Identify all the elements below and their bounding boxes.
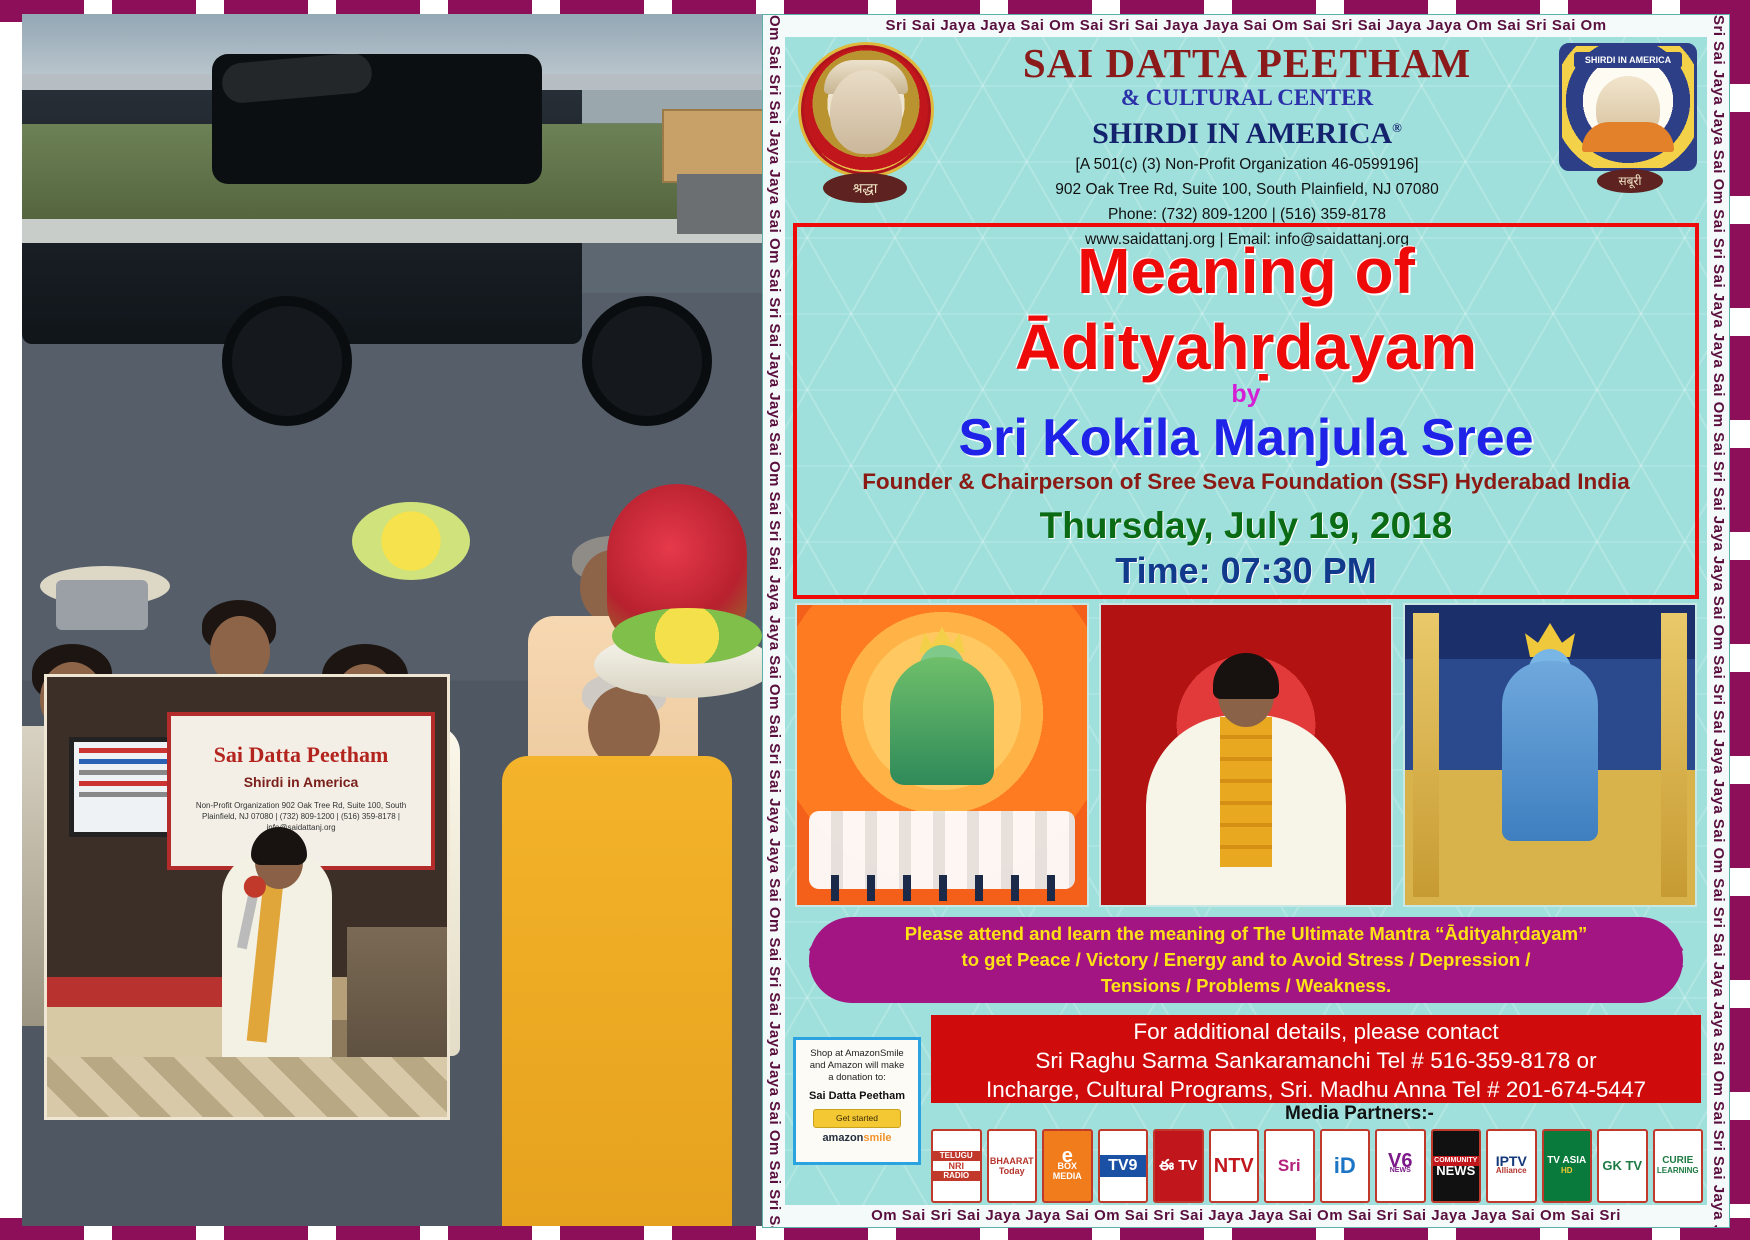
p9-bot: NEWS — [1390, 1166, 1411, 1176]
image-speaker-portrait — [1099, 603, 1393, 907]
partner-logo-ntv: NTV — [1209, 1129, 1260, 1203]
organization-block: SAI DATTA PEETHAM & CULTURAL CENTER SHIR… — [937, 41, 1557, 250]
contact-box: For additional details, please contact S… — [931, 1015, 1701, 1103]
amazon-beneficiary: Sai Datta Peetham — [796, 1090, 918, 1102]
floor-tiles — [47, 1057, 447, 1117]
p14-bot: LEARNING — [1657, 1166, 1699, 1176]
deity-image-row — [795, 603, 1697, 903]
temple-pillar-left — [1413, 613, 1439, 897]
partner-logo-sri-tv: Sri — [1264, 1129, 1315, 1203]
shirdi-in-america-seal-icon: SHIRDI IN AMERICA — [1559, 43, 1697, 171]
trademark-symbol: ® — [1392, 120, 1402, 135]
image-surya-bhagavan — [795, 603, 1089, 907]
event-title-line1: Meaning of — [797, 239, 1695, 303]
org-phone: Phone: (732) 809-1200 | (516) 359-8178 — [937, 204, 1557, 225]
partner-logo-iptv-alliance: IPTV Alliance — [1486, 1129, 1537, 1203]
org-tagline: SHIRDI IN AMERICA® — [937, 111, 1557, 150]
p5-mid: ఈ TV — [1159, 1161, 1197, 1171]
partner-logo-id-network: iD — [1320, 1129, 1371, 1203]
seal-right-robe — [1582, 122, 1674, 152]
partner-logo-gk-tv: GK TV — [1597, 1129, 1648, 1203]
callout-line2: to get Peace / Victory / Energy and to A… — [905, 947, 1588, 973]
banner-subtitle: Shirdi in America — [179, 774, 423, 790]
p10-mid: NEWS — [1436, 1166, 1475, 1176]
p11-mid: IPTV — [1496, 1156, 1527, 1166]
p7-mid: Sri — [1278, 1161, 1301, 1171]
contact-line2: Sri Raghu Sarma Sankaramanchi Tel # 516-… — [931, 1046, 1701, 1075]
p1-top: TELUGU — [933, 1151, 980, 1161]
photo-collage: Sai Datta Peetham Shirdi in America Non-… — [22, 14, 762, 1226]
flower-plate — [352, 502, 470, 580]
org-nonprofit-id: [A 501(c) (3) Non-Profit Organization 46… — [937, 154, 1557, 175]
seal-face — [830, 70, 902, 154]
event-flyer: Sri Sai Jaya Jaya Sai Om Sai Sri Sai Jay… — [762, 14, 1730, 1228]
org-address: 902 Oak Tree Rd, Suite 100, South Plainf… — [937, 179, 1557, 200]
mantra-ribbon-bottom-text: Om Sai Sri Sai Jaya Jaya Sai Om Sai Sri … — [871, 1207, 1621, 1224]
partner-logo-bhaarat-today: BHAARAT Today — [987, 1129, 1038, 1203]
partner-logo-telugu-nri-radio: TELUGU NRI RADIO — [931, 1129, 982, 1203]
amazon-word: amazon — [822, 1132, 863, 1144]
contact-line3: Incharge, Cultural Programs, Sri. Madhu … — [931, 1075, 1701, 1104]
p14-mid: CURIE — [1662, 1156, 1693, 1166]
org-name: SAI DATTA PEETHAM — [937, 41, 1557, 85]
mantra-ribbon-right: Sri Sai Jaya Jaya Sai Om Sai Sri Sai Jay… — [1707, 15, 1729, 1227]
partner-logo-tv-asia: TV ASIA HD — [1542, 1129, 1593, 1203]
sai-datta-peetham-seal-icon — [801, 45, 931, 175]
image-sri-rama — [1403, 603, 1697, 907]
p3-top: e — [1062, 1151, 1073, 1161]
mantra-ribbon-left-text: Om Sai Sri Sai Jaya Jaya Sai Om Sai Sri … — [763, 15, 785, 1227]
event-title-line2: Ādityahṛdayam — [797, 315, 1695, 379]
curb — [22, 219, 762, 243]
amazon-get-started-button[interactable]: Get started — [813, 1109, 901, 1128]
amazon-smile-box[interactable]: Shop at AmazonSmile and Amazon will make… — [793, 1037, 921, 1165]
frame-dash-right — [1728, 0, 1750, 1240]
equipment-box — [677, 174, 762, 234]
flower-offering — [612, 608, 762, 664]
surya-body — [890, 657, 994, 785]
snowflake-left-icon: ❄ — [803, 936, 851, 984]
partner-logo-etv: ఈ TV — [1153, 1129, 1204, 1203]
banner-title: Sai Datta Peetham — [179, 742, 423, 768]
portrait-hair — [1213, 653, 1279, 699]
mantra-ribbon-top-text: Sri Sai Jaya Jaya Sai Om Sai Sri Sai Jay… — [885, 17, 1606, 34]
event-date: Thursday, July 19, 2018 — [797, 503, 1695, 549]
seating — [347, 927, 447, 1077]
callout-banner: ❄ Please attend and learn the meaning of… — [809, 917, 1683, 1003]
media-partners-list: TELUGU NRI RADIO BHAARAT Today e BOX MED… — [931, 1129, 1703, 1203]
inset-photo: Sai Datta Peetham Shirdi in America Non-… — [44, 674, 450, 1120]
callout-line1: Please attend and learn the meaning of T… — [905, 921, 1588, 947]
p2-bot: Today — [999, 1166, 1025, 1176]
event-speaker-title: Founder & Chairperson of Sree Seva Found… — [797, 467, 1695, 497]
event-time: Time: 07:30 PM — [797, 549, 1695, 593]
amazon-smile-logo-icon: amazonsmile — [796, 1132, 918, 1144]
mantra-ribbon-left: Om Sai Sri Sai Jaya Jaya Sai Om Sai Sri … — [763, 15, 785, 1227]
poster-page: Sai Datta Peetham Shirdi in America Non-… — [0, 0, 1750, 1240]
snowflake-right-icon: ❄ — [1641, 936, 1689, 984]
p13-mid: GK TV — [1602, 1161, 1642, 1171]
van-wheel-left — [222, 296, 352, 426]
p11-bot: Alliance — [1496, 1166, 1527, 1176]
flyer-header: श्रद्धा SHIRDI IN AMERICA सबूरी SAI DATT… — [785, 37, 1707, 222]
p6-mid: NTV — [1214, 1161, 1254, 1171]
amazon-line2: and Amazon will make — [796, 1060, 918, 1072]
shraddha-label: श्रद्धा — [823, 173, 907, 203]
partner-logo-curie-learning: CURIE LEARNING — [1653, 1129, 1704, 1203]
smile-word: smile — [863, 1132, 891, 1144]
p3-mid: BOX — [1057, 1161, 1077, 1171]
rama-body — [1502, 661, 1598, 841]
mantra-ribbon-right-text: Sri Sai Jaya Jaya Sai Om Sai Sri Sai Jay… — [1707, 15, 1729, 1227]
callout-line3: Tensions / Problems / Weakness. — [905, 973, 1588, 999]
p12-bot: HD — [1561, 1166, 1573, 1176]
p4-mid: TV9 — [1100, 1155, 1147, 1177]
partner-logo-tv9: TV9 — [1098, 1129, 1149, 1203]
portrait-sash — [1220, 717, 1272, 867]
amazon-line1: Shop at AmazonSmile — [796, 1048, 918, 1060]
p12-mid: TV ASIA — [1547, 1156, 1586, 1166]
p8-mid: iD — [1334, 1161, 1356, 1171]
org-subtitle: & CULTURAL CENTER — [937, 85, 1557, 111]
steel-pot — [56, 580, 148, 630]
van-wheel-right — [582, 296, 712, 426]
p3-bot: MEDIA — [1053, 1171, 1082, 1181]
contact-line1: For additional details, please contact — [931, 1017, 1701, 1046]
banner-details: Non-Profit Organization 902 Oak Tree Rd,… — [181, 800, 421, 833]
p2-mid: BHAARAT — [990, 1156, 1034, 1166]
p1-bot: RADIO — [933, 1171, 980, 1181]
temple-pillar-right — [1661, 613, 1687, 897]
p9-mid: V6 — [1388, 1156, 1412, 1166]
callout-text: Please attend and learn the meaning of T… — [905, 921, 1588, 999]
partner-logo-community-news: COMMUNITY NEWS — [1431, 1129, 1482, 1203]
seal-caption-top: SHIRDI IN AMERICA — [1574, 52, 1682, 68]
mantra-ribbon-bottom: Om Sai Sri Sai Jaya Jaya Sai Om Sai Sri … — [763, 1205, 1729, 1227]
amazon-line3: a donation to: — [796, 1072, 918, 1084]
partner-logo-v6-news: V6 NEWS — [1375, 1129, 1426, 1203]
cardboard-box — [662, 109, 762, 183]
partner-logo-ebox-media: e BOX MEDIA — [1042, 1129, 1093, 1203]
p1-mid: NRI — [949, 1161, 965, 1171]
event-panel: Meaning of Ādityahṛdayam by Sri Kokila M… — [793, 223, 1699, 599]
media-partners-label: Media Partners:- — [1285, 1103, 1434, 1125]
saburi-label: सबूरी — [1597, 169, 1663, 193]
event-by-label: by — [797, 379, 1695, 409]
mantra-ribbon-top: Sri Sai Jaya Jaya Sai Om Sai Sri Sai Jay… — [763, 15, 1729, 37]
event-speaker-name: Sri Kokila Manjula Sree — [797, 409, 1695, 467]
org-tagline-text: SHIRDI IN AMERICA — [1092, 117, 1392, 150]
